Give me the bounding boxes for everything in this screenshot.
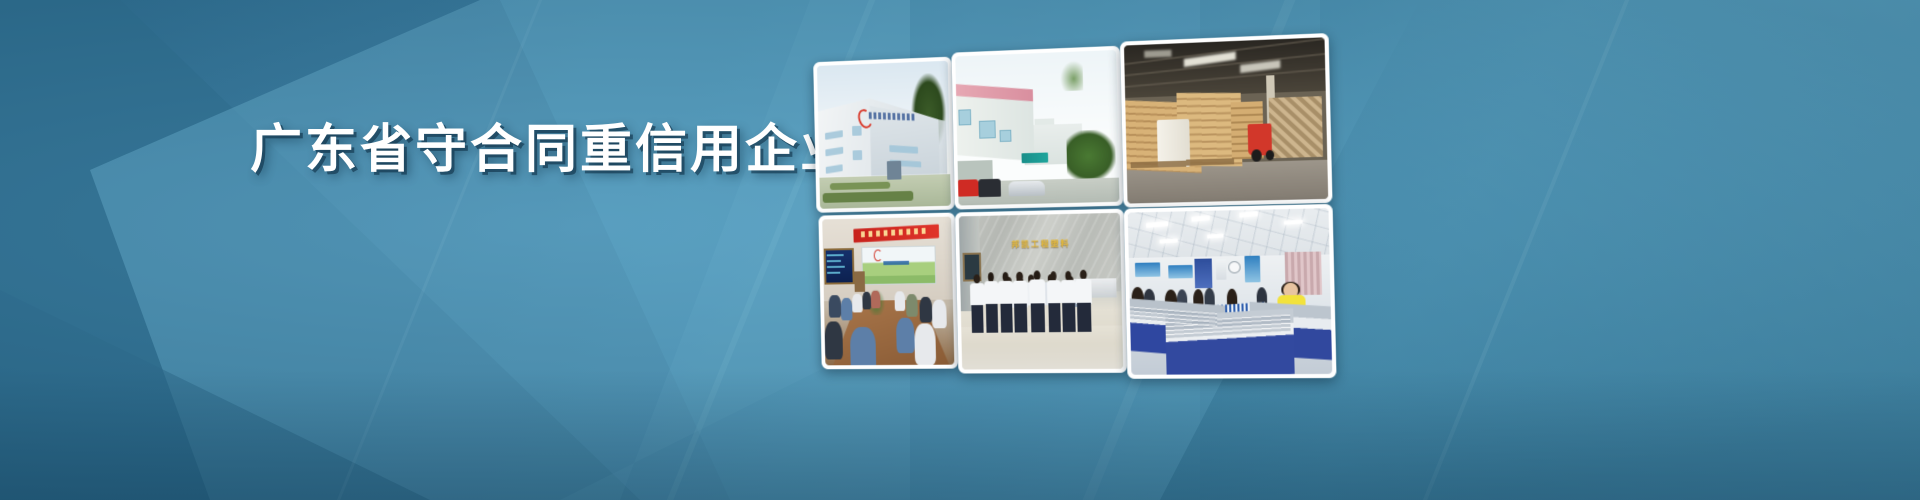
staff-yellow-jacket <box>1277 295 1306 332</box>
company-banner: 广东省守合同重信用企业 <box>0 0 1920 500</box>
lobby-wall-sign: 邦凯工程塑料 <box>1002 235 1080 252</box>
silver-sedan <box>1009 181 1045 197</box>
white-bulk-bags <box>1157 119 1190 168</box>
plant-green-sign <box>1021 152 1049 163</box>
wall-clock-icon <box>1228 261 1240 273</box>
photo-team-lobby[interactable]: 邦凯工程塑料 <box>955 209 1127 374</box>
photo-factory-exterior[interactable] <box>813 57 955 213</box>
red-van <box>958 180 979 197</box>
photo-open-plan-office[interactable] <box>1124 204 1337 379</box>
photo-factory-exterior-image <box>817 61 951 209</box>
red-forklift <box>1247 123 1272 156</box>
photo-team-lobby-image: 邦凯工程塑料 <box>959 213 1123 370</box>
photo-open-plan-office-image <box>1128 208 1333 375</box>
photo-warehouse-storage[interactable] <box>1120 33 1333 208</box>
photo-conference-training-image <box>822 217 954 366</box>
photo-plant-and-yard-image <box>955 50 1119 206</box>
photo-warehouse-storage-image <box>1124 37 1328 203</box>
banner-headline: 广东省守合同重信用企业 <box>250 124 855 176</box>
photo-conference-training[interactable] <box>818 213 958 370</box>
background-bottom-shade <box>0 370 1920 500</box>
projection-screen <box>861 245 936 285</box>
company-photo-collage: 邦凯工程塑料 <box>813 33 1334 375</box>
photo-plant-and-yard[interactable] <box>951 46 1123 210</box>
black-van <box>979 179 1002 198</box>
